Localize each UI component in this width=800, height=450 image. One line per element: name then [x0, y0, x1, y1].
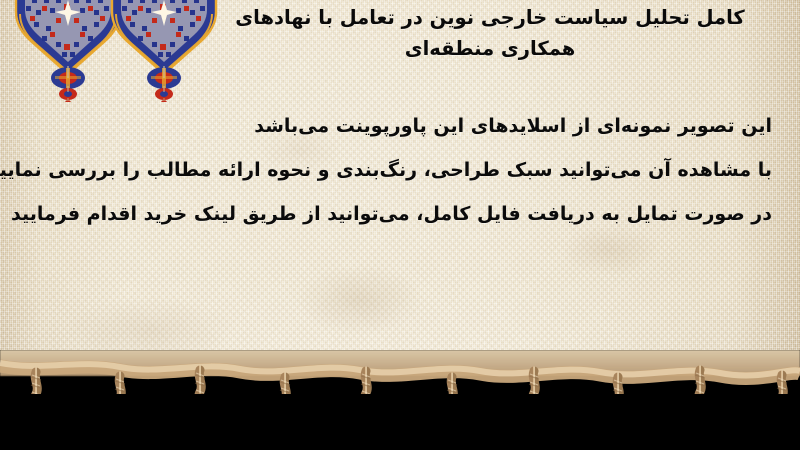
slide-title: کامل تحلیل سیاست خارجی نوین در تعامل با … [210, 2, 770, 64]
slide-body-line-3: در صورت تمایل به دریافت فایل کامل، می‌تو… [27, 192, 772, 236]
slide-title-line-2: همکاری منطقه‌ای [210, 33, 770, 64]
slide-body-line-1: این تصویر نمونه‌ای از اسلایدهای این پاور… [27, 104, 772, 148]
slide-bottom-black-area [0, 394, 800, 450]
slide-body: این تصویر نمونه‌ای از اسلایدهای این پاور… [27, 104, 772, 236]
slide-body-line-2: با مشاهده آن می‌توانید سبک طراحی، رنگ‌بن… [27, 148, 772, 192]
presentation-slide: کامل تحلیل سیاست خارجی نوین در تعامل با … [0, 0, 800, 450]
slide-title-line-1: کامل تحلیل سیاست خارجی نوین در تعامل با … [210, 2, 770, 33]
persian-medallion-ornament-right [108, 0, 220, 106]
